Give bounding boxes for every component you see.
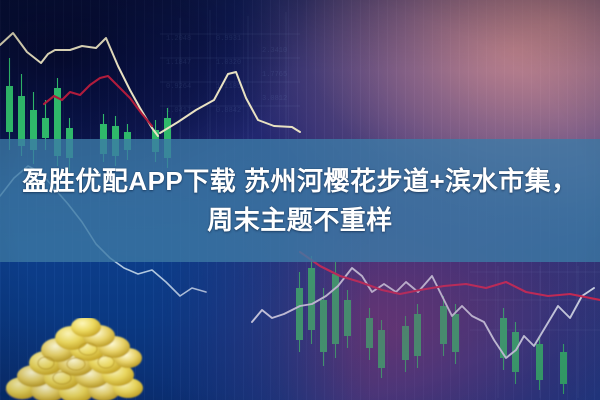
banner-image: 1.2048 0.9931 1.1847 1.0320 0.9264 1.118…	[0, 0, 600, 400]
vignette-overlay	[0, 0, 600, 400]
